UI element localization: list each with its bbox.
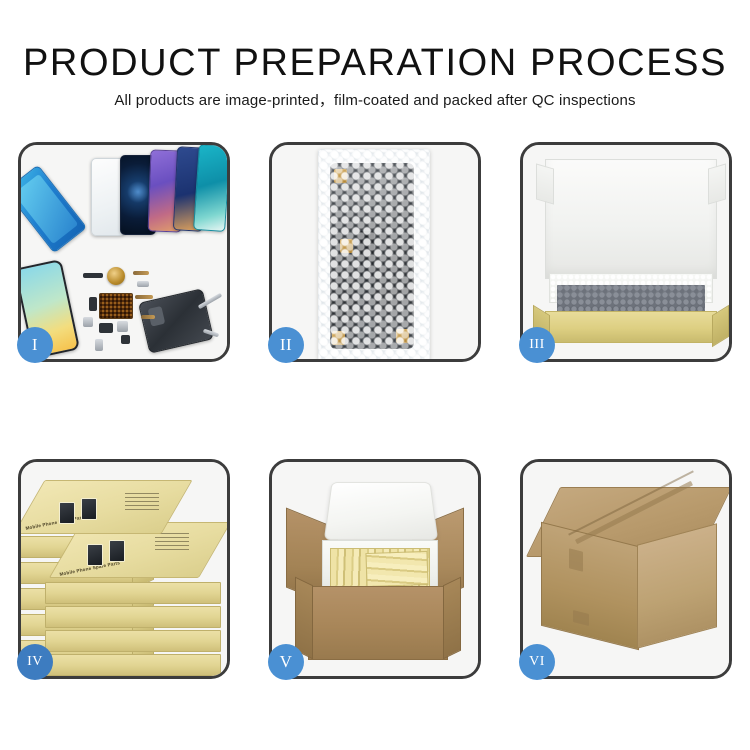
step-badge-3: III (519, 327, 555, 363)
stacked-box-right-1 (45, 654, 221, 676)
small-part-4 (89, 297, 97, 311)
styrofoam-lid (324, 482, 438, 540)
box-spec-lines-top (125, 490, 159, 510)
step-6-image (523, 462, 729, 676)
product-preparation-infographic: PRODUCT PREPARATION PROCESS All products… (0, 0, 750, 750)
gold-connector-1 (334, 169, 347, 183)
process-step-3: III Packed into kraft inner box with foa… (520, 142, 732, 362)
small-part-10 (95, 339, 103, 351)
gold-connector-2 (340, 239, 353, 253)
gold-connector-3 (332, 331, 345, 345)
process-step-1: I Mobile phone screens, LCD assemblies a… (18, 142, 230, 362)
step-3-caption: Packed into kraft inner box with foam pa… (523, 145, 524, 146)
small-part-9 (121, 335, 130, 344)
step-badge-1: I (17, 327, 53, 363)
small-part-8 (117, 321, 128, 332)
copper-coil-part (107, 267, 125, 285)
page-subtitle: All products are image-printed，film-coat… (0, 91, 750, 111)
sealed-carton-side (637, 523, 717, 648)
flex-cable (358, 231, 374, 341)
carton-body (308, 586, 448, 660)
box-thumb-front-2 (109, 540, 125, 562)
small-part-5 (135, 295, 153, 299)
step-badge-2: II (268, 327, 304, 363)
small-part-3 (137, 281, 149, 287)
step-1-caption: Mobile phone screens, LCD assemblies and… (21, 145, 22, 146)
carton-handle-cut-top (569, 548, 583, 571)
foam-lid-panel (545, 159, 717, 279)
stacked-box-right-4 (45, 582, 221, 604)
small-part-7 (99, 323, 113, 333)
small-part-11 (141, 315, 155, 319)
small-part-1 (83, 273, 103, 278)
box-stack: Mobile Phone Spare Parts Mobile Phone Sp… (21, 468, 227, 676)
step-badge-4: IV (17, 644, 53, 680)
step-badge-5: V (268, 644, 304, 680)
header: PRODUCT PREPARATION PROCESS All products… (0, 0, 750, 111)
box-thumb-front-1 (87, 544, 103, 566)
step-4-image: Mobile Phone Spare Parts Mobile Phone Sp… (21, 462, 227, 676)
step-4-caption: Labelled boxes stacked (21, 462, 22, 463)
process-step-4: Mobile Phone Spare Parts Mobile Phone Sp… (18, 459, 230, 679)
chip-array-part (99, 293, 133, 319)
stacked-box-right-3 (45, 606, 221, 628)
step-6-caption: Carton sealed and ready for shipping (523, 462, 524, 463)
yellow-boxes-bundle-2 (365, 551, 428, 587)
step-5-image (272, 462, 478, 676)
phone-screen-blue (21, 165, 87, 254)
kraft-box-front (545, 311, 717, 343)
step-1-image (21, 145, 227, 359)
stacked-box-right-2 (45, 630, 221, 652)
process-step-5: V Loaded into foam-lined export carton (269, 459, 481, 679)
small-part-6 (83, 317, 93, 327)
box-thumb-top-2 (81, 498, 97, 520)
box-thumb-top-1 (59, 502, 75, 524)
step-badge-6: VI (519, 644, 555, 680)
small-part-2 (133, 271, 149, 275)
gold-connector-4 (396, 329, 409, 343)
step-3-image (523, 145, 729, 359)
process-step-grid: I Mobile phone screens, LCD assemblies a… (18, 142, 732, 679)
process-step-2: II Single part sealed in bubble wrap (269, 142, 481, 362)
page-title: PRODUCT PREPARATION PROCESS (0, 42, 750, 84)
step-2-caption: Single part sealed in bubble wrap (272, 145, 273, 146)
step-5-caption: Loaded into foam-lined export carton (272, 462, 273, 463)
step-2-image (272, 145, 478, 359)
phone-screen-teal (193, 145, 227, 232)
process-step-6: VI Carton sealed and ready for shipping (520, 459, 732, 679)
